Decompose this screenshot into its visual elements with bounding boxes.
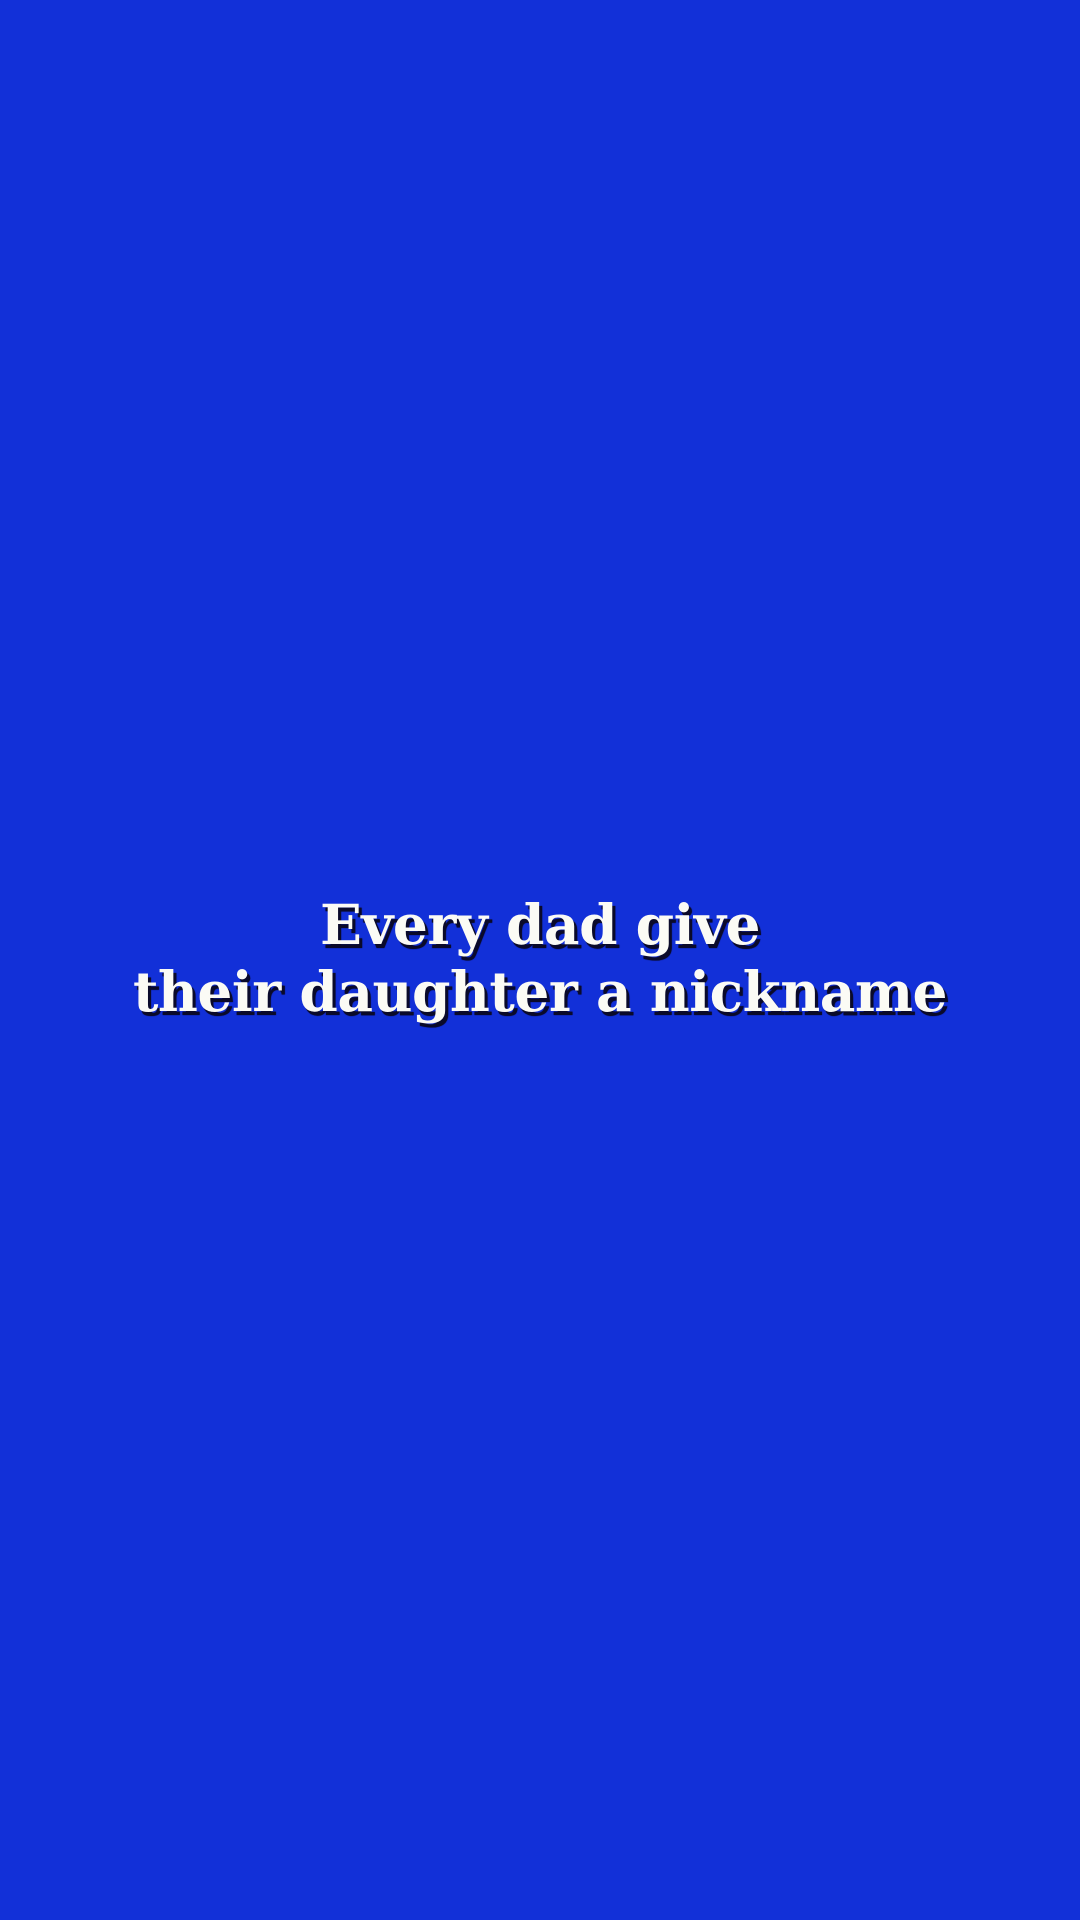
caption-line-2: their daughter a nickname: [133, 964, 947, 1019]
caption-block: Every dad give their daughter a nickname: [0, 0, 1080, 1920]
story-canvas: Every dad give their daughter a nickname: [0, 0, 1080, 1920]
caption-line-1: Every dad give: [320, 897, 760, 952]
